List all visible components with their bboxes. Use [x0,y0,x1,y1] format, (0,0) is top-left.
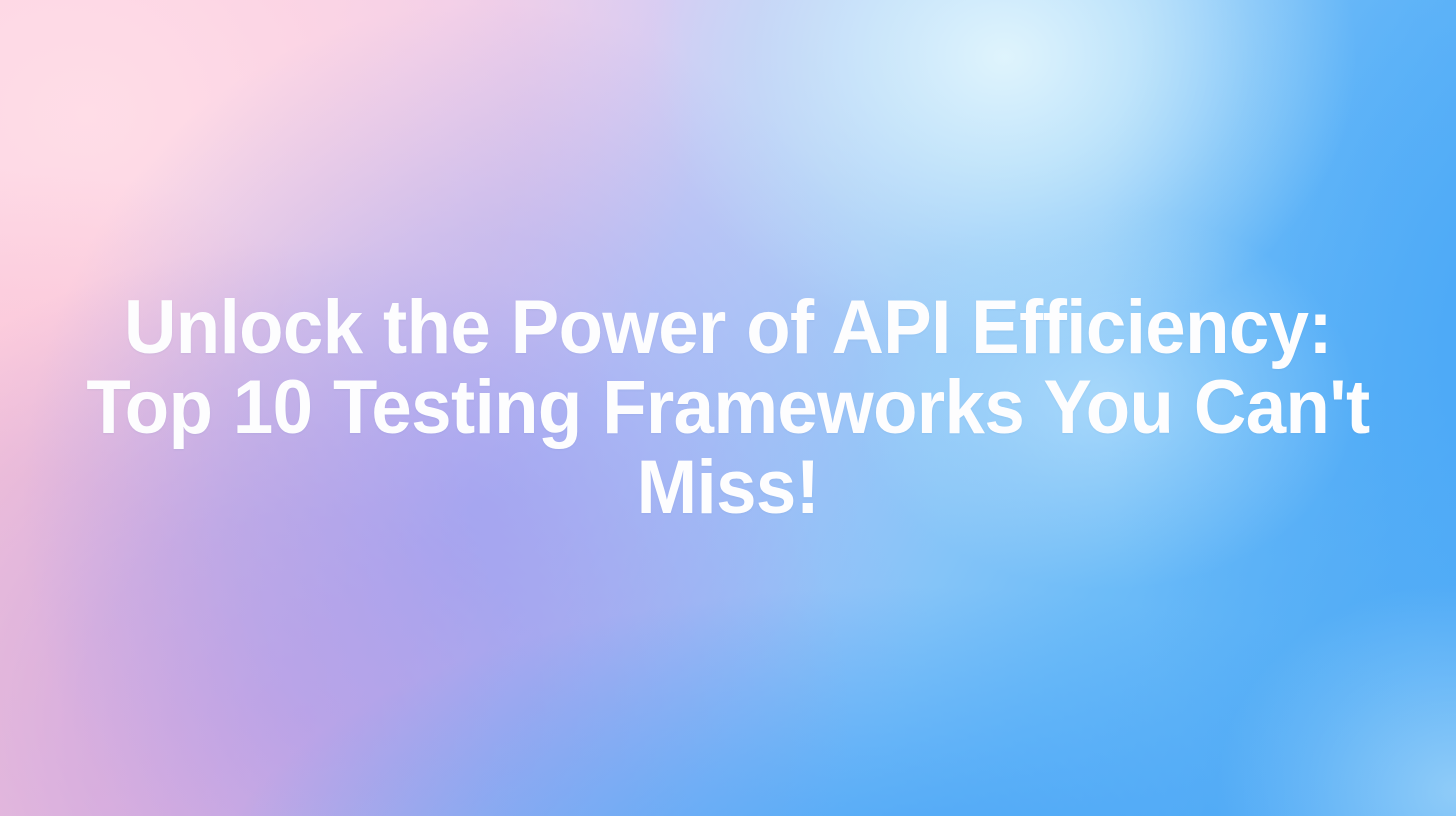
banner-headline: Unlock the Power of API Efficiency: Top … [86,288,1370,527]
headline-container: Unlock the Power of API Efficiency: Top … [28,288,1428,527]
hero-banner: Unlock the Power of API Efficiency: Top … [0,0,1456,816]
